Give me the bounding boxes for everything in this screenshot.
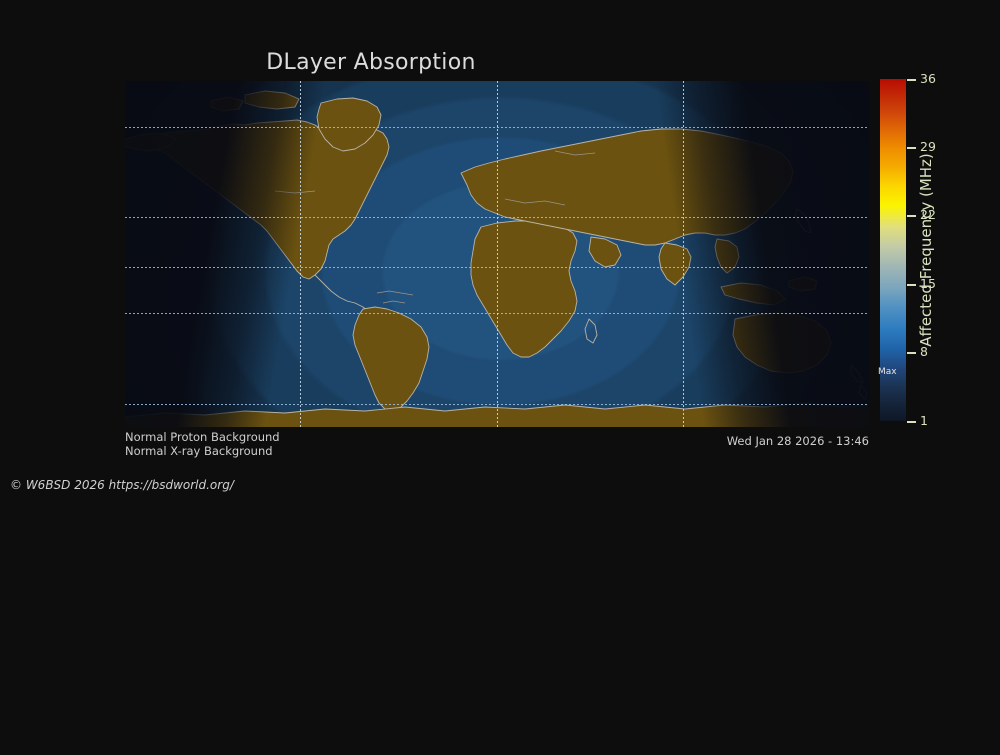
max-marker-label: Max [878,367,897,377]
page-title: DLayer Absorption [0,50,742,75]
colorbar-tick-8 [907,352,916,354]
gridline-lon-60w [497,81,498,427]
colorbar-tick-29 [907,147,916,149]
colorbar-tick-36 [907,79,916,81]
gridline-lon-60e [683,81,684,427]
colorbar-axis-title: Affected Frequency (MHz) [916,79,936,421]
timestamp-label: Wed Jan 28 2026 - 13:46 [727,434,869,448]
xray-background-note: Normal X-ray Background [125,444,273,458]
graticule [125,81,869,427]
colorbar-tick-15 [907,284,916,286]
copyright-footer: © W6BSD 2026 https://bsdworld.org/ [10,478,234,492]
proton-background-note: Normal Proton Background [125,430,280,444]
colorbar-axis-title-text: Affected Frequency (MHz) [917,153,935,347]
colorbar-tick-1 [907,421,916,423]
gridline-lon-120w [300,81,301,427]
dlayer-absorption-figure: DLayer Absorption [0,0,1000,500]
colorbar-tick-22 [907,215,916,217]
world-map[interactable] [125,81,869,427]
